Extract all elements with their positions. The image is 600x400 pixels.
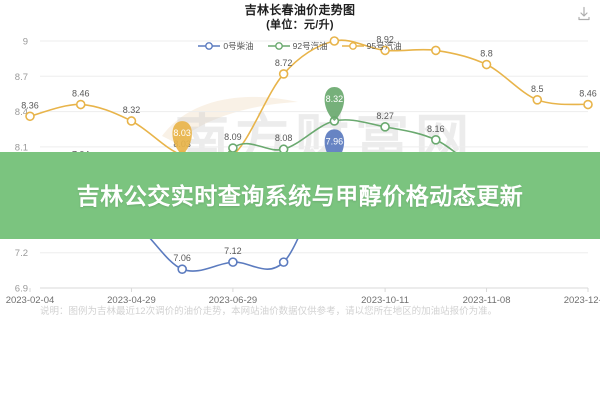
highlight-pin-label: 8.32	[326, 94, 344, 104]
series-point[interactable]	[533, 96, 541, 104]
point-value-label: 7.06	[173, 253, 191, 263]
highlight-pin-label: 8.03	[173, 128, 191, 138]
point-value-label: 8.72	[275, 58, 293, 68]
series-point[interactable]	[229, 144, 237, 152]
y-tick-label: 8.7	[15, 72, 28, 83]
series-point[interactable]	[432, 46, 440, 54]
series-point[interactable]	[77, 101, 85, 109]
y-tick-label: 6.9	[15, 284, 28, 295]
download-icon[interactable]	[576, 6, 592, 22]
series-point[interactable]	[330, 37, 338, 45]
point-value-label: 8.46	[579, 89, 597, 99]
series-point[interactable]	[280, 70, 288, 78]
point-value-label: 8.09	[224, 132, 242, 142]
point-value-label: 8.92	[376, 34, 394, 44]
point-value-label: 8.32	[123, 105, 141, 115]
series-point[interactable]	[381, 46, 389, 54]
series-point[interactable]	[584, 101, 592, 109]
overlay-headline: 吉林公交实时查询系统与甲醇价格动态更新	[30, 180, 570, 212]
y-tick-label: 9	[23, 37, 28, 48]
point-value-label: 8.8	[480, 49, 493, 59]
series-point[interactable]	[229, 258, 237, 266]
oil-price-chart-page: 吉林长春油价走势图 (单位：元/升) 南方财富网 98.78.48.17.87.…	[0, 0, 600, 400]
series-point[interactable]	[26, 112, 34, 120]
point-value-label: 8.27	[376, 111, 394, 121]
highlight-pin-label: 7.96	[326, 136, 344, 146]
point-value-label: 8.46	[72, 89, 90, 99]
point-value-label: 8.16	[427, 124, 445, 134]
y-tick-label: 7.2	[15, 248, 28, 259]
point-value-label: 8.08	[275, 133, 293, 143]
point-value-label: 7.12	[224, 246, 242, 256]
chart-footnote: 说明：图例为吉林最近12次调价的油价走势，本网站油价数据仅供参考，请以您所在地区…	[40, 305, 562, 319]
chart-x-axis: 2023-02-042023-04-292023-06-292023-10-11…	[6, 288, 600, 306]
overlay-banner: 吉林公交实时查询系统与甲醇价格动态更新	[0, 152, 600, 239]
point-value-label: 8.5	[531, 84, 544, 94]
point-value-label: 8.36	[21, 100, 39, 110]
series-line	[30, 40, 588, 162]
series-point[interactable]	[127, 117, 135, 125]
series-point[interactable]	[483, 61, 491, 69]
series-point[interactable]	[178, 265, 186, 273]
series-point[interactable]	[280, 258, 288, 266]
series-point[interactable]	[432, 136, 440, 144]
series-point[interactable]	[381, 123, 389, 131]
x-tick-label: 2023-12-06	[564, 295, 600, 306]
